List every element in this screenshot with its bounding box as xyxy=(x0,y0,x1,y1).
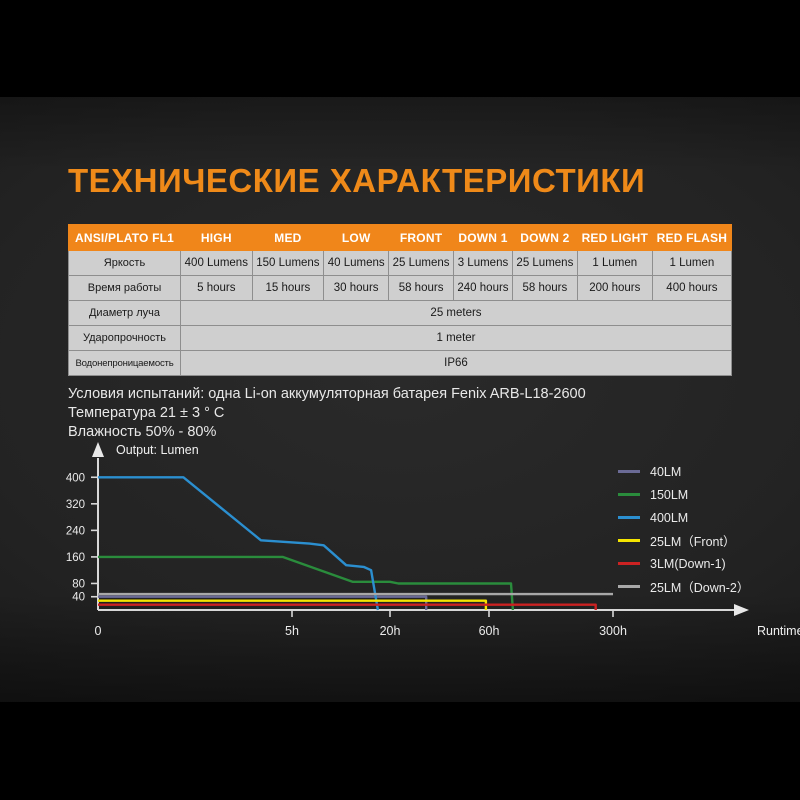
table-cell: 30 hours xyxy=(324,276,389,301)
legend-color-swatch xyxy=(618,493,640,496)
legend-color-swatch xyxy=(618,562,640,565)
table-header: ANSI/PLATO FL1HIGHMEDLOWFRONTDOWN 1DOWN … xyxy=(69,225,732,251)
table-column-header: HIGH xyxy=(181,225,253,251)
legend-item-label: 25LM（Front） xyxy=(650,531,735,550)
table-column-header: ANSI/PLATO FL1 xyxy=(69,225,181,251)
legend-item: 25LM（Front） xyxy=(618,529,749,552)
legend-color-swatch xyxy=(618,516,640,519)
table-cell: 1 meter xyxy=(181,326,732,351)
table-row: ВодонепроницаемостьIP66 xyxy=(69,351,732,376)
legend-item: 3LM(Down-1) xyxy=(618,552,749,575)
table-row: Яркость400 Lumens150 Lumens40 Lumens25 L… xyxy=(69,251,732,276)
table-cell: 240 hours xyxy=(454,276,513,301)
table-cell: 15 hours xyxy=(252,276,324,301)
legend-item: 40LM xyxy=(618,460,749,483)
specifications-table: ANSI/PLATO FL1HIGHMEDLOWFRONTDOWN 1DOWN … xyxy=(68,224,732,376)
table-cell: 25 Lumens xyxy=(512,251,577,276)
legend-item-label: 25LM（Down-2） xyxy=(650,577,749,596)
test-conditions: Условия испытаний: одна Li-on аккумулято… xyxy=(68,385,586,442)
y-tick-label: 40 xyxy=(72,592,85,604)
table-cell: 58 hours xyxy=(512,276,577,301)
specifications-page: ТЕХНИЧЕСКИЕ ХАРАКТЕРИСТИКИ ANSI/PLATO FL… xyxy=(0,0,800,800)
legend-item: 25LM（Down-2） xyxy=(618,575,749,598)
y-tick-label: 160 xyxy=(66,552,85,564)
chart-x-axis-label: Runtime: hour xyxy=(757,624,800,638)
x-tick-label: 0 xyxy=(95,624,102,638)
legend-color-swatch xyxy=(618,470,640,473)
x-tick-label: 5h xyxy=(285,624,299,638)
chart-y-axis-label: Output: Lumen xyxy=(116,443,199,457)
legend-item-label: 150LM xyxy=(650,488,688,502)
table-cell: 400 hours xyxy=(652,276,731,301)
x-axis-arrow xyxy=(734,604,749,616)
table-cell: 58 hours xyxy=(389,276,454,301)
x-tick-label: 300h xyxy=(599,624,627,638)
y-tick-label: 80 xyxy=(72,578,85,590)
legend-item-label: 400LM xyxy=(650,511,688,525)
table-row-label: Время работы xyxy=(69,276,181,301)
table-cell: 400 Lumens xyxy=(181,251,253,276)
table-cell: 150 Lumens xyxy=(252,251,324,276)
table-cell: 25 meters xyxy=(181,301,732,326)
table-column-header: RED FLASH xyxy=(652,225,731,251)
table-column-header: RED LIGHT xyxy=(577,225,652,251)
table-cell: 40 Lumens xyxy=(324,251,389,276)
table-cell: 3 Lumens xyxy=(454,251,513,276)
table-cell: 5 hours xyxy=(181,276,253,301)
chart-series-line xyxy=(98,477,378,610)
y-axis-arrow xyxy=(92,442,104,457)
conditions-line-1: Условия испытаний: одна Li-on аккумулято… xyxy=(68,385,586,404)
table-row: Время работы5 hours15 hours30 hours58 ho… xyxy=(69,276,732,301)
table-cell: 1 Lumen xyxy=(652,251,731,276)
chart-series-line xyxy=(98,557,513,610)
legend-item-label: 3LM(Down-1) xyxy=(650,557,726,571)
x-tick-label: 60h xyxy=(479,624,500,638)
page-title: ТЕХНИЧЕСКИЕ ХАРАКТЕРИСТИКИ xyxy=(68,162,645,200)
table-row-label: Ударопрочность xyxy=(69,326,181,351)
table-row: Диаметр луча25 meters xyxy=(69,301,732,326)
x-tick-label: 20h xyxy=(380,624,401,638)
table-header-row: ANSI/PLATO FL1HIGHMEDLOWFRONTDOWN 1DOWN … xyxy=(69,225,732,251)
table-row-label: Диаметр луча xyxy=(69,301,181,326)
legend-color-swatch xyxy=(618,585,640,588)
table-row-label: Яркость xyxy=(69,251,181,276)
table-body: Яркость400 Lumens150 Lumens40 Lumens25 L… xyxy=(69,251,732,376)
y-tick-label: 240 xyxy=(66,525,85,537)
table-column-header: DOWN 2 xyxy=(512,225,577,251)
legend-item-label: 40LM xyxy=(650,465,681,479)
table-cell: 25 Lumens xyxy=(389,251,454,276)
legend-item: 400LM xyxy=(618,506,749,529)
legend-color-swatch xyxy=(618,539,640,542)
table-column-header: DOWN 1 xyxy=(454,225,513,251)
table-column-header: LOW xyxy=(324,225,389,251)
table-cell: IP66 xyxy=(181,351,732,376)
table-column-header: FRONT xyxy=(389,225,454,251)
table-cell: 1 Lumen xyxy=(577,251,652,276)
conditions-line-2: Температура 21 ± 3 ° C xyxy=(68,404,586,423)
legend-item: 150LM xyxy=(618,483,749,506)
chart-legend: 40LM150LM400LM25LM（Front）3LM(Down-1)25LM… xyxy=(618,460,749,598)
y-tick-label: 320 xyxy=(66,499,85,511)
table-row-label: Водонепроницаемость xyxy=(69,351,181,376)
table-cell: 200 hours xyxy=(577,276,652,301)
table-column-header: MED xyxy=(252,225,324,251)
table-row: Ударопрочность1 meter xyxy=(69,326,732,351)
y-tick-label: 400 xyxy=(66,472,85,484)
